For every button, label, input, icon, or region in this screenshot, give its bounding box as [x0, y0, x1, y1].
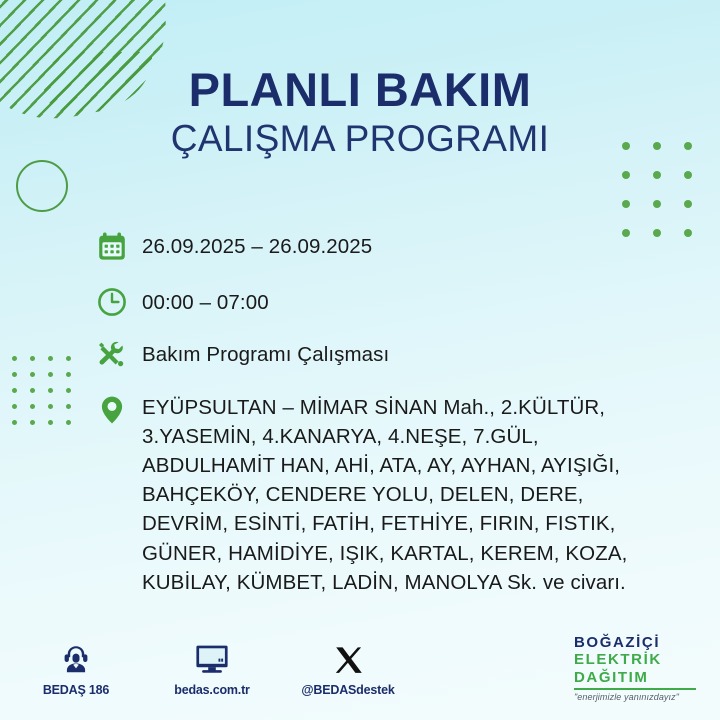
- clock-icon: [96, 282, 142, 322]
- brand-divider: [574, 688, 696, 690]
- decorative-dot: [12, 388, 17, 393]
- decorative-dot: [66, 420, 71, 425]
- brand-line-dagitim: DAĞITIM: [574, 669, 702, 686]
- address-line: ABDULHAMİT HAN, AHİ, ATA, AY, AYHAN, AYI…: [142, 451, 627, 480]
- decorative-dot: [48, 388, 53, 393]
- info-row-location: EYÜPSULTAN – MİMAR SİNAN Mah., 2.KÜLTÜR,…: [96, 390, 686, 597]
- work-type-text: Bakım Programı Çalışması: [142, 334, 389, 369]
- contact-label: @BEDASdestek: [300, 683, 396, 697]
- contact-website[interactable]: bedas.com.tr: [164, 636, 260, 697]
- poster-footer: BEDAŞ 186 bedas.com.tr: [0, 628, 720, 720]
- brand-tagline: "enerjimizle yanınızdayız": [574, 692, 702, 702]
- decorative-dot: [30, 388, 35, 393]
- decorative-dot: [12, 420, 17, 425]
- headset-icon: [28, 636, 124, 676]
- poster-header: PLANLI BAKIM ÇALIŞMA PROGRAMI: [0, 66, 720, 159]
- decorative-dot: [12, 372, 17, 377]
- address-line: BAHÇEKÖY, CENDERE YOLU, DELEN, DERE,: [142, 480, 627, 509]
- decorative-dot: [48, 420, 53, 425]
- decorative-dot: [684, 171, 692, 179]
- dot-grid-decoration-left: [12, 356, 84, 436]
- decorative-dot: [66, 372, 71, 377]
- brand-line-bogazici: BOĞAZİÇİ: [574, 634, 702, 651]
- date-range-text: 26.09.2025 – 26.09.2025: [142, 226, 372, 261]
- decorative-dot: [12, 356, 17, 361]
- decorative-dot: [66, 388, 71, 393]
- decorative-dot: [684, 200, 692, 208]
- decorative-dot: [12, 404, 17, 409]
- decorative-dot: [30, 404, 35, 409]
- decorative-dot: [48, 404, 53, 409]
- page-title: PLANLI BAKIM: [0, 66, 720, 114]
- decorative-dot: [653, 171, 661, 179]
- decorative-dot: [48, 372, 53, 377]
- decorative-dot: [622, 171, 630, 179]
- info-row-time: 00:00 – 07:00: [96, 282, 686, 322]
- bedas-logo: BOĞAZİÇİ ELEKTRİK DAĞITIM "enerjimizle y…: [574, 634, 702, 702]
- contact-label: bedas.com.tr: [164, 683, 260, 697]
- info-row-work-type: Bakım Programı Çalışması: [96, 334, 686, 374]
- planned-maintenance-poster: PLANLI BAKIM ÇALIŞMA PROGRAMI: [0, 0, 720, 720]
- tools-icon: [96, 334, 142, 374]
- decorative-dot: [30, 372, 35, 377]
- decorative-dot: [622, 200, 630, 208]
- info-row-date: 26.09.2025 – 26.09.2025: [96, 226, 686, 266]
- address-line: GÜNER, HAMİDİYE, IŞIK, KARTAL, KEREM, KO…: [142, 539, 627, 568]
- contact-label: BEDAŞ 186: [28, 683, 124, 697]
- calendar-icon: [96, 226, 142, 266]
- info-block: 26.09.2025 – 26.09.2025 00:00 – 07:00: [96, 226, 686, 611]
- contact-list: BEDAŞ 186 bedas.com.tr: [28, 636, 396, 697]
- decorative-dot: [30, 420, 35, 425]
- map-pin-icon: [96, 390, 142, 430]
- address-text: EYÜPSULTAN – MİMAR SİNAN Mah., 2.KÜLTÜR,…: [142, 390, 627, 597]
- address-line: 3.YASEMİN, 4.KANARYA, 4.NEŞE, 7.GÜL,: [142, 422, 627, 451]
- contact-call-center[interactable]: BEDAŞ 186: [28, 636, 124, 697]
- decorative-dot: [66, 356, 71, 361]
- x-logo-icon: [300, 636, 396, 676]
- decorative-dot: [48, 356, 53, 361]
- circle-outline-decoration: [16, 160, 68, 212]
- address-line: DEVRİM, ESİNTİ, FATİH, FETHİYE, FIRIN, F…: [142, 509, 627, 538]
- address-line: KUBİLAY, KÜMBET, LADİN, MANOLYA Sk. ve c…: [142, 568, 627, 597]
- time-range-text: 00:00 – 07:00: [142, 282, 269, 317]
- contact-x-social[interactable]: @BEDASdestek: [300, 636, 396, 697]
- decorative-dot: [653, 200, 661, 208]
- decorative-dot: [30, 356, 35, 361]
- page-subtitle: ÇALIŞMA PROGRAMI: [0, 118, 720, 159]
- brand-line-elektrik: ELEKTRİK: [574, 651, 702, 668]
- monitor-icon: [164, 636, 260, 676]
- address-line: EYÜPSULTAN – MİMAR SİNAN Mah., 2.KÜLTÜR,: [142, 393, 627, 422]
- decorative-dot: [66, 404, 71, 409]
